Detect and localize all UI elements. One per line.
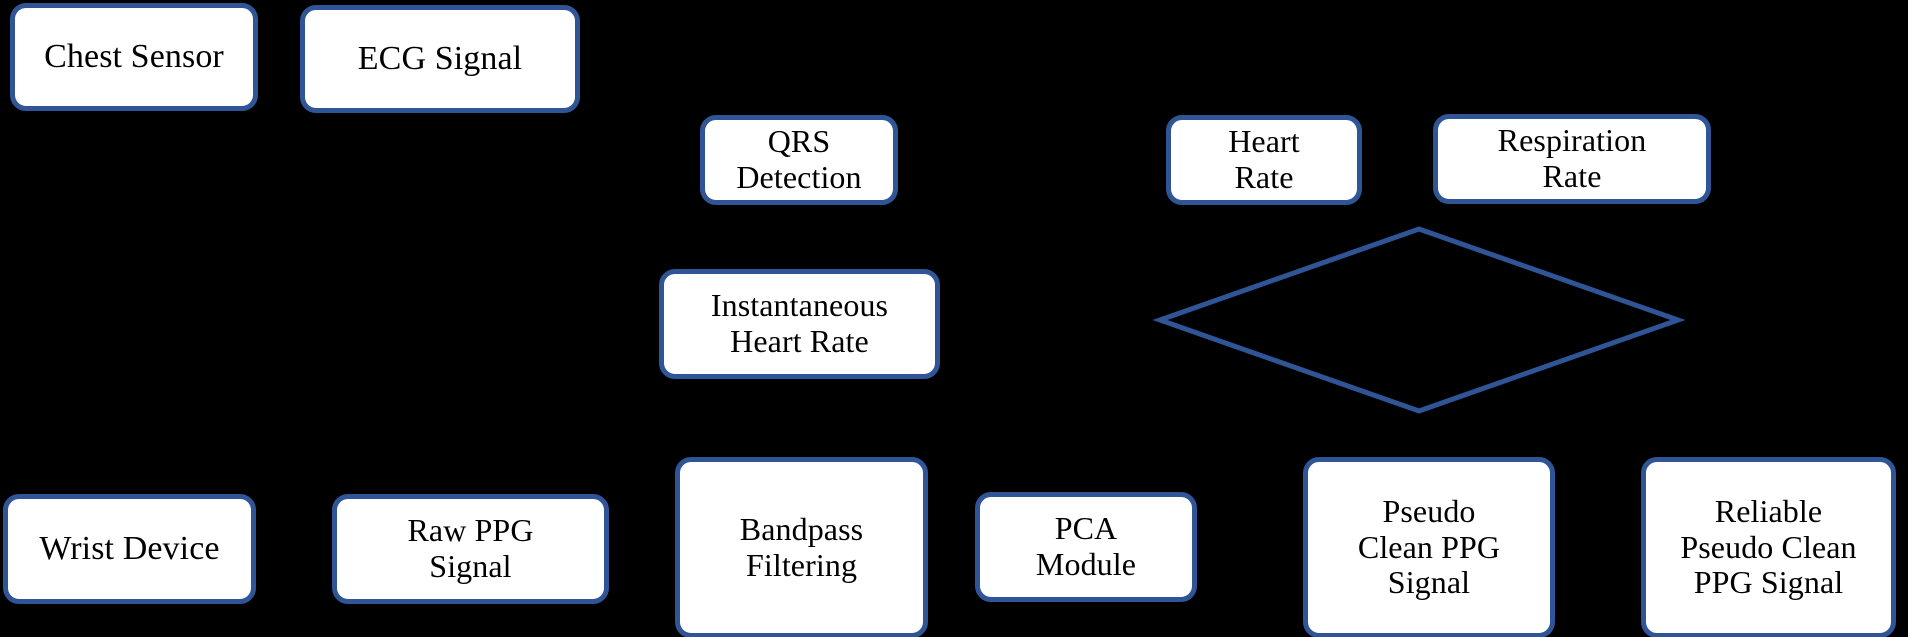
node-bandpass-filtering[interactable]: Bandpass Filtering [675,457,928,637]
connector-pseudo-clean-ppg-signal-to-decision [1427,411,1431,457]
connector-ecg-signal-to-qrs-detection [580,57,799,61]
node-pca-module[interactable]: PCA Module [975,492,1197,602]
arrowhead-raw-ppg-signal-to-bandpass-filtering [663,542,675,556]
node-chest-sensor[interactable]: Chest Sensor [10,3,258,111]
connector-instantaneous-heart-rate-to-heart-rate [940,322,1264,326]
node-instantaneous-heart-rate[interactable]: Instantaneous Heart Rate [659,269,940,379]
arrowhead-pca-module-to-pseudo-clean-ppg-signal [1291,542,1303,556]
node-respiration-rate[interactable]: Respiration Rate [1433,114,1711,204]
node-wrist-device[interactable]: Wrist Device [3,494,256,604]
node-heart-rate[interactable]: Heart Rate [1166,115,1362,205]
arrowhead-pseudo-clean-ppg-signal-to-decision [1422,403,1436,415]
connector-respiration-rate-to-decision [1570,204,1574,284]
node-raw-ppg-signal[interactable]: Raw PPG Signal [332,494,609,604]
decision-diamond-outline [1160,229,1678,411]
node-pseudo-clean-ppg-signal[interactable]: Pseudo Clean PPG Signal [1303,457,1555,637]
connector-instantaneous-heart-rate-to-bandpass-filtering [797,379,801,457]
arrowhead-wrist-device-to-raw-ppg-signal [320,542,332,556]
arrowhead-bandpass-filtering-to-pca-module [963,542,975,556]
connector-pca-module-to-pseudo-clean-ppg-signal [1197,547,1303,551]
node-qrs-detection[interactable]: QRS Detection [700,115,898,205]
node-ecg-signal[interactable]: ECG Signal [300,5,580,113]
diagram-canvas: Chest SensorECG SignalQRS DetectionHeart… [0,0,1908,637]
arrowhead-chest-sensor-to-ecg-signal [288,50,300,64]
decision-diamond[interactable] [1153,222,1685,418]
arrowhead-pseudo-clean-ppg-to-reliable [1629,542,1641,556]
node-reliable-pseudo-clean-ppg-signal[interactable]: Reliable Pseudo Clean PPG Signal [1641,457,1896,637]
connector-heart-rate-to-decision [1262,205,1266,291]
